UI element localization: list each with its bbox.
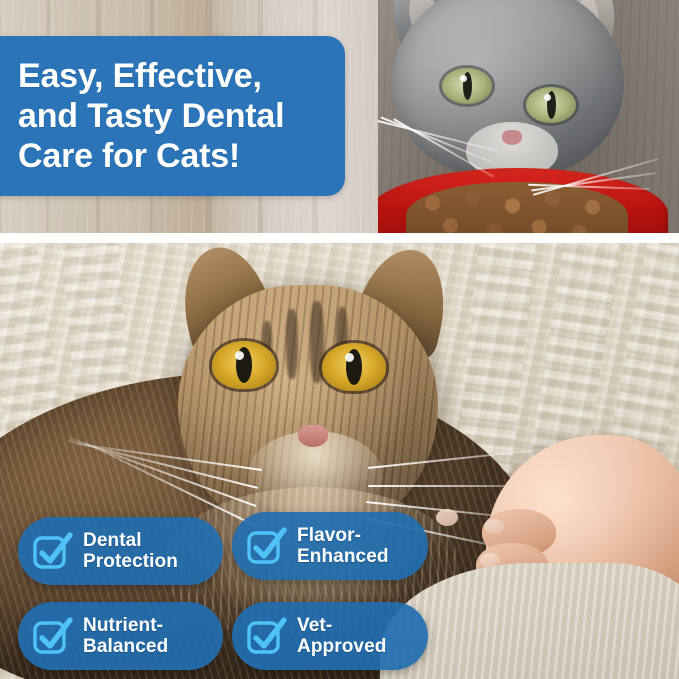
cat-pupil [236, 347, 252, 383]
top-right-cat-photo [378, 0, 679, 233]
checkbox-check-icon [34, 532, 72, 570]
cat-pupil [547, 91, 556, 119]
panel-separator [0, 233, 679, 243]
grey-cat-head [392, 0, 624, 178]
checkbox-check-icon [248, 617, 286, 655]
cat-pupil [346, 349, 362, 385]
cat-eye-right [526, 87, 576, 123]
badge-label: Flavor- Enhanced [297, 525, 405, 568]
top-panel: Easy, Effective, and Tasty Dental Care f… [0, 0, 679, 233]
feature-badge-flavor-enhanced[interactable]: Flavor- Enhanced [232, 512, 428, 580]
fingernail [436, 509, 458, 526]
headline-banner: Easy, Effective, and Tasty Dental Care f… [0, 36, 345, 196]
cat-nose [298, 425, 328, 447]
cat-pupil [463, 72, 472, 100]
cat-eye-left [442, 68, 492, 104]
headline-line-3: Care for Cats! [18, 136, 284, 176]
feature-badge-vet-approved[interactable]: Vet-Approved [232, 602, 428, 670]
badge-label: Dental Protection [83, 530, 194, 573]
badge-label: Nutrient- Balanced [83, 615, 184, 658]
cat-eye-right [322, 343, 386, 391]
headline-line-1: Easy, Effective, [18, 56, 284, 96]
badge-label: Vet-Approved [297, 615, 428, 658]
checkbox-check-icon [34, 617, 72, 655]
checkbox-check-icon [248, 527, 286, 565]
cat-eye-left [212, 341, 276, 389]
feature-badge-nutrient-balanced[interactable]: Nutrient- Balanced [18, 602, 223, 670]
cat-forehead-stripe [286, 309, 298, 379]
cat-nose [502, 130, 522, 145]
feature-badge-dental-protection[interactable]: Dental Protection [18, 517, 223, 585]
product-image-canvas: Easy, Effective, and Tasty Dental Care f… [0, 0, 679, 679]
fingernail [484, 519, 504, 534]
headline-text: Easy, Effective, and Tasty Dental Care f… [0, 56, 298, 176]
headline-line-2: and Tasty Dental [18, 96, 284, 136]
